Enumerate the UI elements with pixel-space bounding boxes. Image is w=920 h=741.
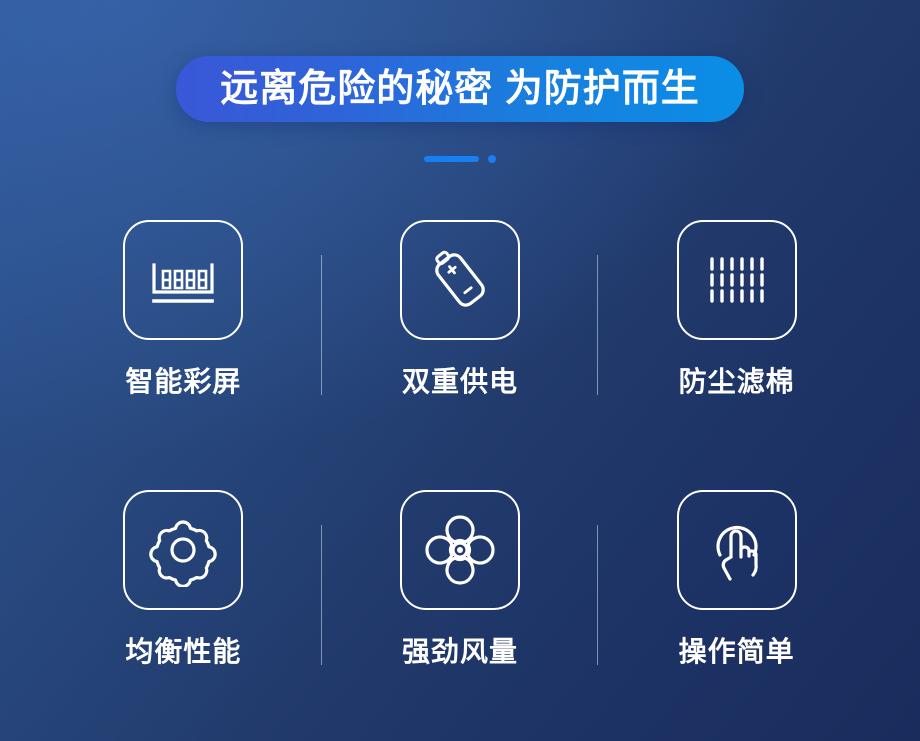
icon-box-performance: [123, 490, 243, 610]
feature-item-performance: 均衡性能: [45, 475, 322, 741]
battery-icon: [423, 243, 497, 317]
feature-label: 操作简单: [679, 638, 795, 666]
feature-item-airflow: 强劲风量: [322, 475, 599, 741]
accent-dot: [488, 155, 496, 163]
icon-box-airflow: [400, 490, 520, 610]
feature-item-display: 智能彩屏: [45, 205, 322, 475]
icon-box-power: [400, 220, 520, 340]
icon-box-display: [123, 220, 243, 340]
filter-mesh-icon: [700, 243, 774, 317]
feature-label: 防尘滤棉: [679, 368, 795, 396]
accent-divider: [0, 155, 920, 163]
icon-box-filter: [677, 220, 797, 340]
accent-bar: [424, 156, 479, 162]
page-title: 远离危险的秘密 为防护而生: [220, 70, 700, 108]
feature-grid: 智能彩屏 双重供电: [45, 205, 875, 741]
feature-item-power: 双重供电: [322, 205, 599, 475]
icon-box-operation: [677, 490, 797, 610]
title-pill: 远离危险的秘密 为防护而生: [176, 56, 744, 122]
digital-display-icon: [146, 243, 220, 317]
feature-label: 双重供电: [402, 368, 518, 396]
title-banner: 远离危险的秘密 为防护而生: [0, 56, 920, 122]
gear-icon: [146, 513, 220, 587]
touch-hand-icon: [700, 513, 774, 587]
promo-banner: 远离危险的秘密 为防护而生 智能彩屏: [0, 0, 920, 741]
feature-item-filter: 防尘滤棉: [598, 205, 875, 475]
fan-icon: [423, 513, 497, 587]
feature-item-operation: 操作简单: [598, 475, 875, 741]
feature-label: 强劲风量: [402, 638, 518, 666]
feature-label: 均衡性能: [125, 638, 241, 666]
feature-label: 智能彩屏: [125, 368, 241, 396]
